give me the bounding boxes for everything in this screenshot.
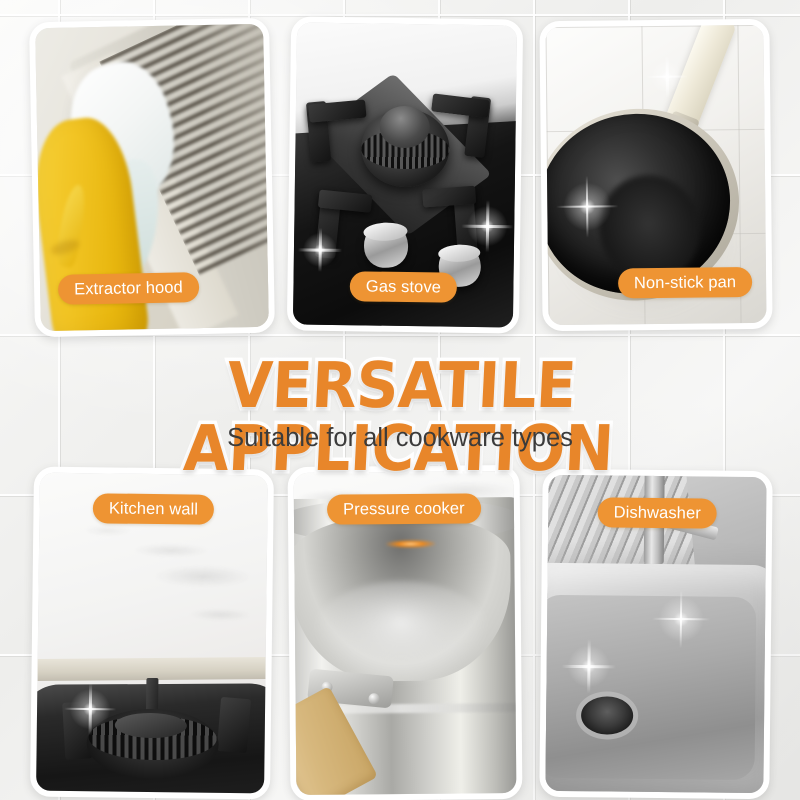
panel-extractor-hood[interactable]: Extractor hood [29, 18, 275, 338]
badge-kitchen-wall[interactable]: Kitchen wall [93, 493, 215, 524]
panel-pressure-cooker[interactable]: Pressure cooker [288, 465, 523, 800]
pot-rivet [368, 693, 379, 704]
panel-non-stick-pan[interactable]: Non-stick pan [539, 19, 772, 331]
sink-basin-inner [545, 595, 756, 781]
badge-gas-stove[interactable]: Gas stove [350, 271, 458, 302]
badge-dishwasher[interactable]: Dishwasher [598, 497, 718, 528]
pot-heat-glow [387, 539, 435, 548]
headline-block: VERSATILE APPLICATION [0, 354, 800, 480]
page-subtitle: Suitable for all cookware types [0, 424, 800, 453]
panel-dishwasher[interactable]: Dishwasher [539, 469, 772, 799]
gas-burner-cap [379, 105, 430, 148]
badge-non-stick-pan[interactable]: Non-stick pan [618, 267, 752, 298]
panel-kitchen-wall[interactable]: Kitchen wall [30, 467, 274, 800]
badge-extractor-hood[interactable]: Extractor hood [58, 272, 199, 305]
panel-gas-stove[interactable]: Gas stove [287, 16, 523, 333]
page-title: VERSATILE APPLICATION [25, 354, 775, 480]
promo-banner: Extractor hood [0, 0, 800, 800]
kitchen-grate-right [217, 696, 251, 752]
pot-inner-shine [312, 581, 489, 686]
badge-pressure-cooker[interactable]: Pressure cooker [327, 493, 481, 524]
